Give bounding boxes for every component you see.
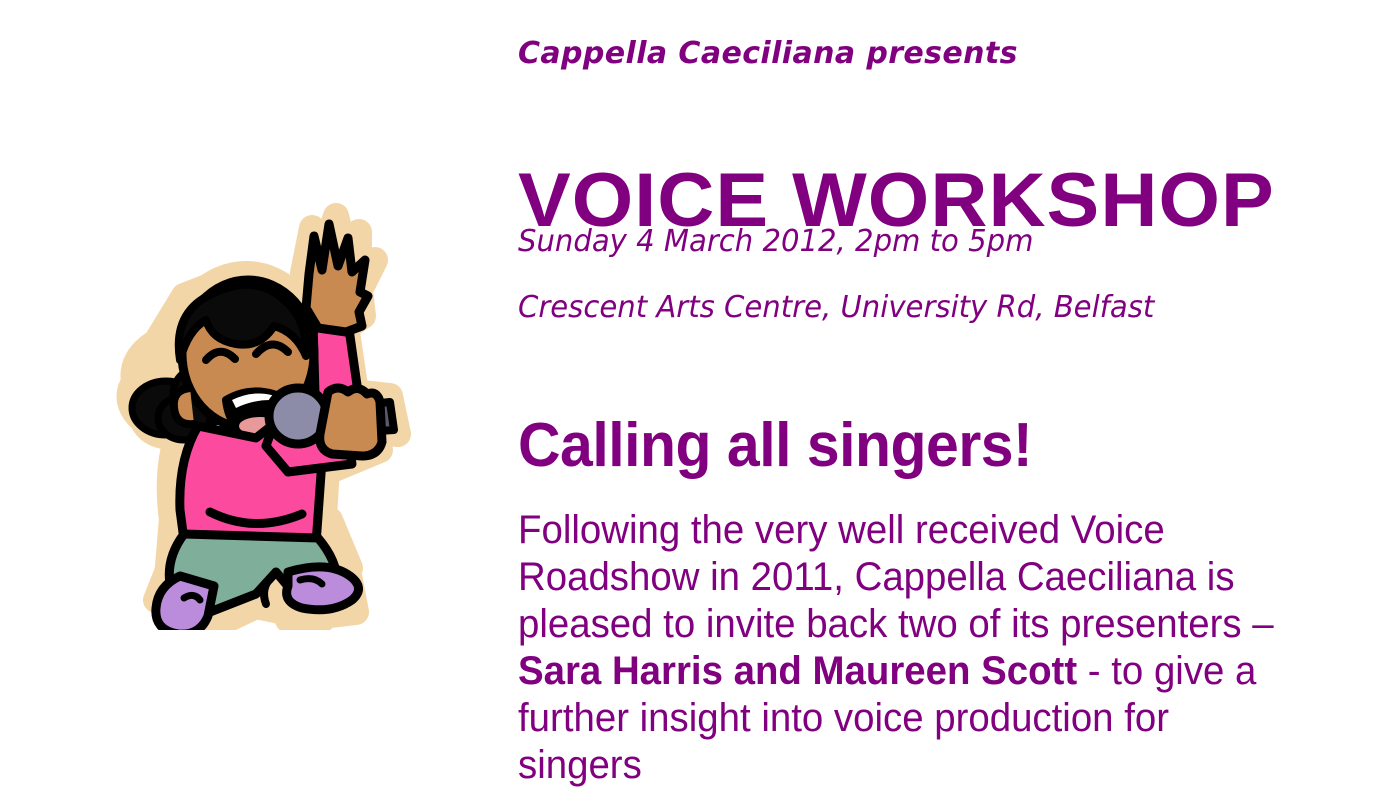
presenter-names: Sara Harris and Maureen Scott (518, 649, 1077, 693)
body-text-part-one: Following the very well received Voice R… (518, 508, 1274, 646)
event-venue-line: Crescent Arts Centre, University Rd, Bel… (518, 290, 1154, 325)
right-shoe (287, 567, 359, 610)
event-date-line: Sunday 4 March 2012, 2pm to 5pm (518, 224, 1033, 259)
left-shoe (156, 576, 214, 630)
poster-canvas: Cappella Caeciliana presents VOICE WORKS… (0, 0, 1390, 769)
body-paragraph: Following the very well received Voice R… (518, 507, 1286, 789)
presents-line: Cappella Caeciliana presents (518, 36, 1018, 71)
call-to-action-heading: Calling all singers! (518, 411, 1032, 481)
mic-hand-fist (320, 388, 382, 456)
singing-girl-illustration (60, 120, 420, 630)
poster-text-column: Cappella Caeciliana presents VOICE WORKS… (518, 0, 1338, 769)
